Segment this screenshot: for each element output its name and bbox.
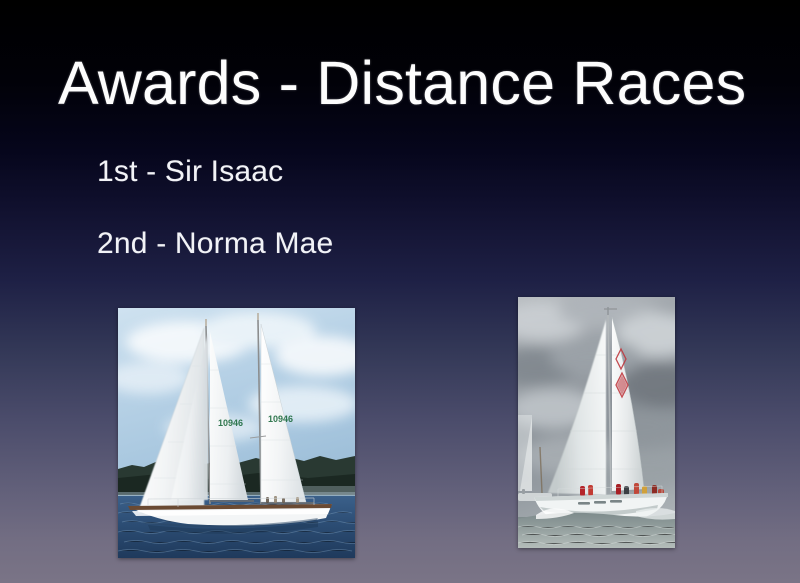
presentation-slide: Awards - Distance Races 1st - Sir Isaac … <box>0 0 800 583</box>
award-place-second: 2nd - Norma Mae <box>97 227 333 261</box>
award-place-first: 1st - Sir Isaac <box>97 155 283 189</box>
sir-isaac-photo-illustration: 10946 10946 <box>118 308 355 558</box>
page-title: Awards - Distance Races <box>58 48 746 118</box>
svg-text:10946: 10946 <box>218 418 243 428</box>
svg-text:10946: 10946 <box>268 414 293 424</box>
sir-isaac-photo: 10946 10946 <box>118 308 355 558</box>
norma-mae-photo <box>518 297 675 548</box>
norma-mae-photo-illustration <box>518 297 675 548</box>
